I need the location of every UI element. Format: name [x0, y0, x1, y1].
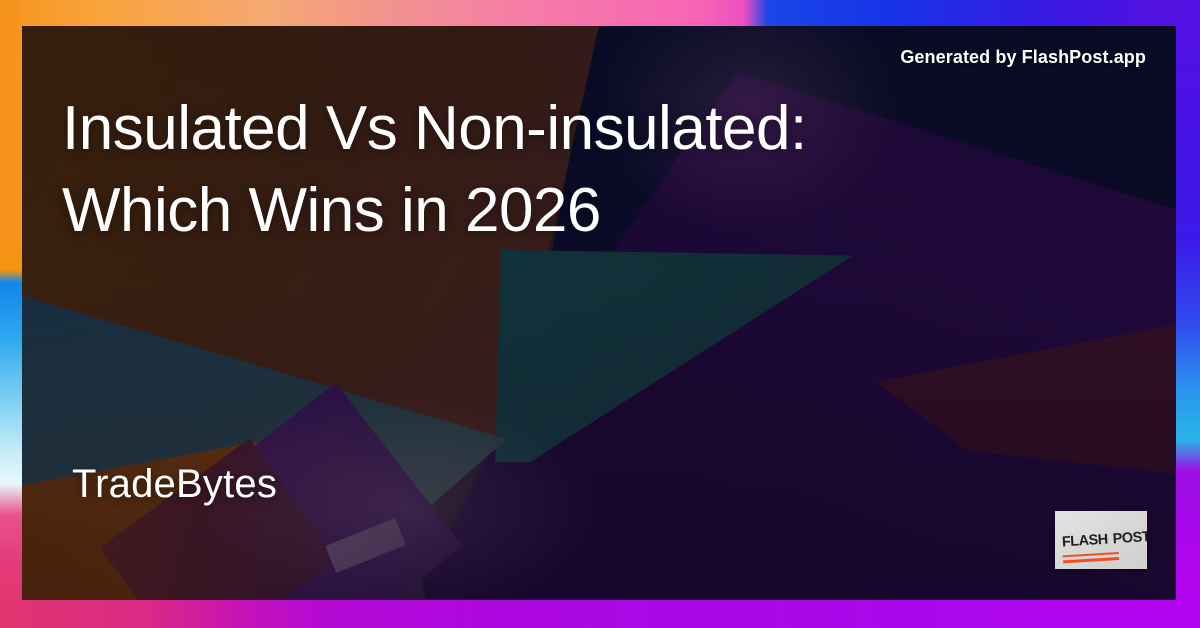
flashpost-logo-badge: FLASH POST ®	[1055, 511, 1147, 569]
flashpost-wordmark: FLASH POST ®	[1061, 521, 1142, 550]
logo-post-text: POST	[1112, 530, 1147, 547]
social-share-card: Generated by FlashPost.app Insulated Vs …	[0, 0, 1200, 628]
frame-left-edge	[0, 0, 22, 628]
logo-speed-line-2	[1063, 557, 1119, 563]
headline-line-2: Which Wins in 2026	[62, 170, 1022, 252]
logo-divider-bar-icon	[1109, 526, 1110, 547]
card-canvas: Generated by FlashPost.app Insulated Vs …	[22, 26, 1176, 600]
generated-by-attribution: Generated by FlashPost.app	[900, 47, 1146, 68]
logo-flash-text: FLASH	[1062, 533, 1109, 550]
frame-top-edge	[0, 0, 1200, 26]
brand-name: TradeBytes	[72, 462, 277, 507]
logo-speed-lines-icon	[1063, 552, 1119, 564]
logo-speed-line-1	[1063, 552, 1119, 558]
headline-line-1: Insulated Vs Non-insulated:	[62, 88, 1022, 170]
page-title: Insulated Vs Non-insulated: Which Wins i…	[62, 88, 1022, 252]
frame-bottom-edge	[0, 600, 1200, 628]
frame-right-edge	[1176, 0, 1200, 628]
flashpost-logo-icon: FLASH POST ®	[1061, 521, 1143, 564]
